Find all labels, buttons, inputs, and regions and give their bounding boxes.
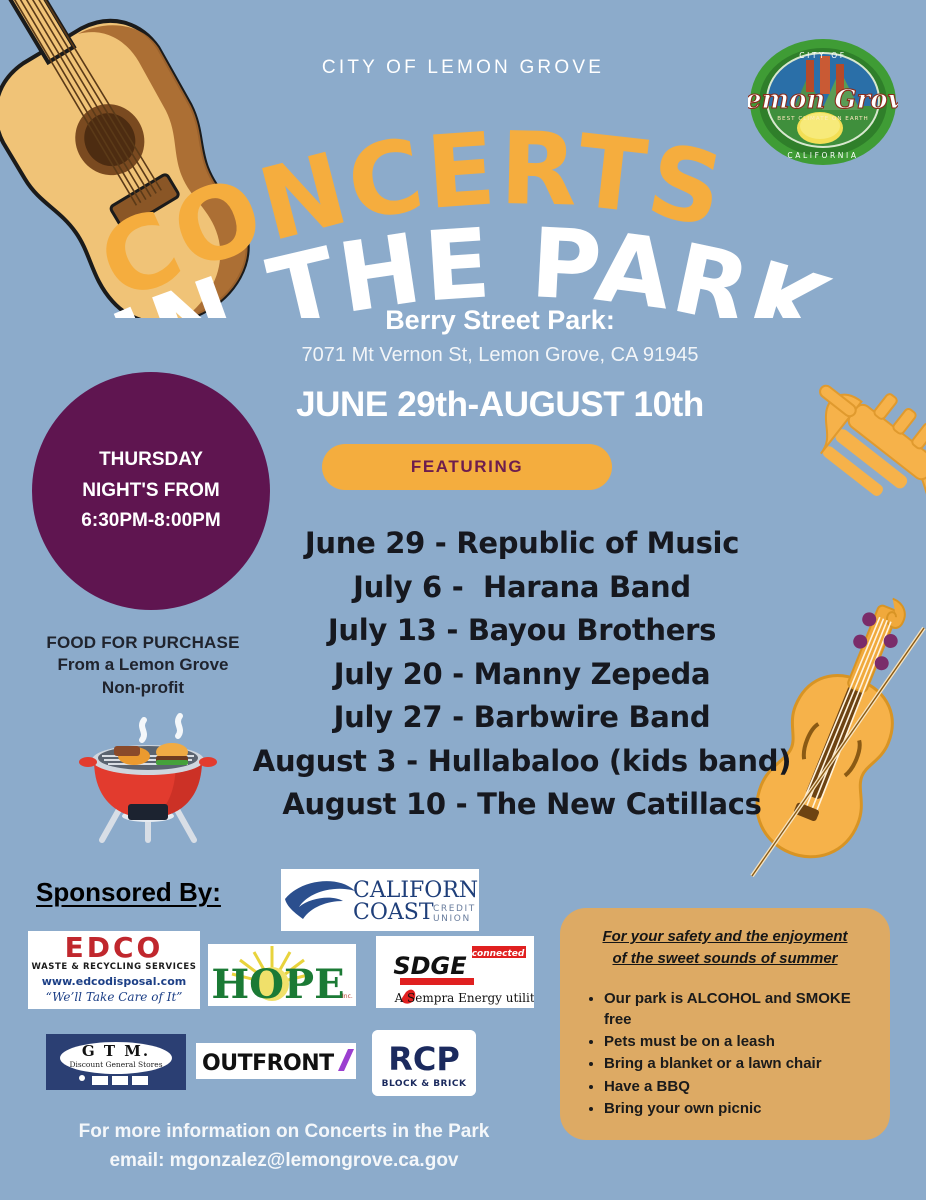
rcp-line-2: BLOCK & BRICK — [382, 1079, 467, 1089]
schedule-line-1: THURSDAY — [99, 445, 203, 475]
gtm-line-1: G T M. — [82, 1042, 150, 1060]
hope-line-1: HOPE — [211, 961, 344, 1006]
lineup-item: July 6 - Harana Band — [232, 566, 812, 610]
ccu-line-4: UNION — [433, 914, 471, 924]
safety-rules-list: Our park is ALCOHOL and SMOKE free Pets … — [604, 988, 874, 1120]
concert-poster: CITY OF LEMON GROVE CITY OF CALIFORNIA L… — [0, 0, 926, 1200]
footer-line-1: For more information on Concerts in the … — [0, 1118, 568, 1147]
safety-info-box: For your safety and the enjoyment of the… — [560, 908, 890, 1140]
lineup-item: July 27 - Barbwire Band — [232, 696, 812, 740]
featuring-label: FEATURING — [411, 457, 523, 477]
schedule-line-2: NIGHT'S FROM — [82, 476, 220, 506]
logo-top-text: CITY OF — [799, 51, 846, 60]
sponsor-logo-rcp: RCP BLOCK & BRICK — [372, 1030, 476, 1096]
sponsor-logo-outfront: OUTFRONT — [196, 1043, 356, 1079]
sponsor-logo-gtm: G T M. Discount General Stores — [46, 1034, 186, 1090]
bbq-grill-icon — [68, 712, 228, 844]
hope-line-2: Inc. — [342, 993, 353, 1000]
lineup-item: August 10 - The New Catillacs — [232, 783, 812, 827]
safety-rule-item: Bring a blanket or a lawn chair — [604, 1053, 874, 1074]
safety-rule-item: Our park is ALCOHOL and SMOKE free — [604, 988, 874, 1031]
rcp-line-1: RCP — [388, 1040, 460, 1078]
lineup-item: June 29 - Republic of Music — [232, 522, 812, 566]
edco-line-1: EDCO — [65, 931, 164, 964]
sponsors-heading: Sponsored By: — [36, 877, 221, 908]
edco-line-2: WASTE & RECYCLING SERVICES — [32, 962, 197, 972]
sdge-line-3: A Sempra Energy utility — [394, 991, 534, 1005]
safety-rule-item: Have a BBQ — [604, 1076, 874, 1097]
ccu-line-3: CREDIT — [433, 904, 476, 914]
gtm-line-2: Discount General Stores — [69, 1060, 162, 1069]
outfront-line-1: OUTFRONT — [202, 1051, 334, 1076]
sponsor-logo-edco: EDCO WASTE & RECYCLING SERVICES www.edco… — [28, 931, 200, 1009]
safety-heading-line-1: For your safety and the enjoyment — [576, 926, 874, 948]
sdge-line-1: SDGE — [393, 952, 467, 980]
sponsor-logo-california-coast: CALIFORNIA COAST CREDIT UNION — [281, 869, 479, 931]
contact-footer: For more information on Concerts in the … — [0, 1118, 568, 1175]
safety-heading: For your safety and the enjoyment of the… — [576, 926, 874, 970]
lineup-item: July 20 - Manny Zepeda — [232, 653, 812, 697]
safety-rule-item: Bring your own picnic — [604, 1098, 874, 1119]
schedule-line-3: 6:30PM-8:00PM — [81, 506, 220, 536]
lineup-list: June 29 - Republic of Music July 6 - Har… — [232, 522, 812, 827]
edco-line-4: “We’ll Take Care of It” — [46, 990, 183, 1004]
featuring-badge: FEATURING — [322, 444, 612, 490]
lineup-item: August 3 - Hullabaloo (kids band) — [232, 740, 812, 784]
lineup-item: July 13 - Bayou Brothers — [232, 609, 812, 653]
sdge-line-2: connected — [472, 949, 525, 959]
edco-line-3: www.edcodisposal.com — [42, 975, 186, 988]
safety-rule-item: Pets must be on a leash — [604, 1031, 874, 1052]
safety-heading-line-2: of the sweet sounds of summer — [576, 948, 874, 970]
sponsor-logo-hope: HOPE Inc. — [208, 944, 356, 1006]
footer-line-2: email: mgonzalez@lemongrove.ca.gov — [0, 1147, 568, 1176]
ccu-line-2: COAST — [353, 900, 434, 925]
date-range: JUNE 29th-AUGUST 10th — [160, 385, 840, 425]
venue-address: 7071 Mt Vernon St, Lemon Grove, CA 91945 — [160, 344, 840, 367]
poster-title: CONCERTS IN THE PARK CONCERTS IN THE PAR… — [0, 88, 926, 318]
sponsor-logo-sdge: connected SDGE A Sempra Energy utility — [376, 936, 534, 1008]
venue-name: Berry Street Park: — [180, 305, 820, 336]
